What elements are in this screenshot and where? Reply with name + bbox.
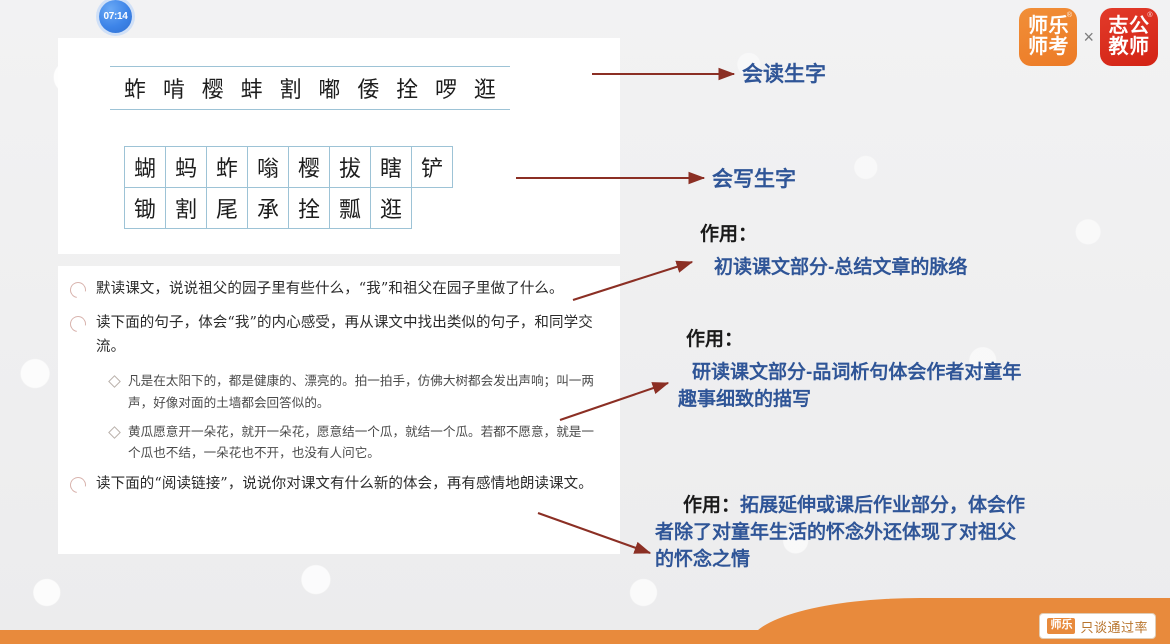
footer-badge-text: 只谈通过率 xyxy=(1080,617,1148,636)
question-subitem-text: 凡是在太阳下的，都是健康的、漂亮的。拍一拍手，仿佛大树都会发出声响；叫一两声，好… xyxy=(128,370,598,413)
write-char-cell: 铲 xyxy=(411,146,453,188)
questions-card: 默读课文，说说祖父的园子里有些什么，“我”和祖父在园子里做了什么。 读下面的句子… xyxy=(58,266,620,554)
footer-bar xyxy=(0,630,1170,644)
diamond-bullet-icon xyxy=(108,426,121,439)
annotation-value-line3: 的怀念之情 xyxy=(655,547,1155,574)
slide-canvas: 07:14 ® 师乐 师考 × ® 志公 教师 蚱 啃 樱 蚌 割 嘟 倭 拴 … xyxy=(0,0,1170,644)
timer-badge[interactable]: 07:14 xyxy=(99,0,132,33)
registered-mark-icon: ® xyxy=(1067,12,1073,19)
annotation-write-label: 会写生字 xyxy=(712,165,796,195)
logo-shile-shikao: ® 师乐 师考 xyxy=(1019,8,1077,66)
annotation-label: 作用： xyxy=(686,327,1148,354)
write-char-cell: 蚂 xyxy=(165,146,207,188)
write-grid-row: 蝴 蚂 蚱 嗡 樱 拔 瞎 铲 xyxy=(124,146,452,187)
question-item: 读下面的句子，体会“我”的内心感受，再从课文中找出类似的句子，和同学交流。 xyxy=(70,312,618,359)
read-char: 樱 xyxy=(202,72,224,104)
footer-badge-mark: 师乐 xyxy=(1047,618,1075,633)
annotation-label: 作用： xyxy=(683,495,740,516)
read-char: 蚱 xyxy=(124,72,146,104)
logo-right-line2: 教师 xyxy=(1109,37,1150,58)
question-subitem-text: 黄瓜愿意开一朵花，就开一朵花，愿意结一个瓜，就结一个瓜。若都不愿意，就是一个瓜也… xyxy=(128,421,598,464)
annotation-value-line2: 趣事细致的描写 xyxy=(678,387,1148,414)
read-char: 啃 xyxy=(163,72,185,104)
annotation-value: 研读课文部分-品词析句体会作者对童年 趣事细致的描写 xyxy=(678,360,1148,414)
annotation-value-line1: 研读课文部分-品词析句体会作者对童年 xyxy=(692,360,1148,387)
write-char-cell: 尾 xyxy=(206,187,248,229)
annotation-label: 作用： xyxy=(700,222,967,249)
write-grid-row: 锄 割 尾 承 拴 瓢 逛 xyxy=(124,187,452,228)
read-char: 蚌 xyxy=(241,72,263,104)
character-card: 蚱 啃 樱 蚌 割 嘟 倭 拴 啰 逛 蝴 蚂 蚱 嗡 樱 拔 瞎 铲 锄 xyxy=(58,38,620,254)
question-list: 默读课文，说说祖父的园子里有些什么，“我”和祖父在园子里做了什么。 读下面的句子… xyxy=(70,278,618,508)
read-char: 逛 xyxy=(474,72,496,104)
write-char-cell: 锄 xyxy=(124,187,166,229)
annotation-block-2: 作用： 研读课文部分-品词析句体会作者对童年 趣事细致的描写 xyxy=(678,327,1148,414)
logo-left-line1: 师乐 xyxy=(1028,16,1069,37)
question-text: 默读课文，说说祖父的园子里有些什么，“我”和祖父在园子里做了什么。 xyxy=(96,278,564,301)
annotation-block-1: 作用： 初读课文部分-总结文章的脉络 xyxy=(700,222,967,282)
annotation-read-label: 会读生字 xyxy=(742,60,826,90)
write-char-cell: 蝴 xyxy=(124,146,166,188)
logo-right-line1: 志公 xyxy=(1109,16,1150,37)
read-char: 割 xyxy=(280,72,302,104)
read-char: 拴 xyxy=(396,72,418,104)
read-char: 倭 xyxy=(357,72,379,104)
question-item: 默读课文，说说祖父的园子里有些什么，“我”和祖父在园子里做了什么。 xyxy=(70,278,618,301)
write-char-cell: 拔 xyxy=(329,146,371,188)
write-char-cell: 承 xyxy=(247,187,289,229)
question-item: 读下面的“阅读链接”，说说你对课文有什么新的体会，再有感情地朗读课文。 xyxy=(70,473,618,496)
logo-group: ® 师乐 师考 × ® 志公 教师 xyxy=(1019,8,1158,66)
read-char: 啰 xyxy=(435,72,457,104)
read-char: 嘟 xyxy=(318,72,340,104)
write-characters-grid: 蝴 蚂 蚱 嗡 樱 拔 瞎 铲 锄 割 尾 承 拴 瓢 逛 xyxy=(124,146,452,228)
question-bullet-icon xyxy=(67,313,89,335)
write-char-cell: 樱 xyxy=(288,146,330,188)
question-subitem: 凡是在太阳下的，都是健康的、漂亮的。拍一拍手，仿佛大树都会发出声响；叫一两声，好… xyxy=(110,370,618,413)
write-char-cell: 蚱 xyxy=(206,146,248,188)
logo-separator-x: × xyxy=(1083,28,1094,46)
annotation-value: 初读课文部分-总结文章的脉络 xyxy=(714,255,967,282)
question-subitem: 黄瓜愿意开一朵花，就开一朵花，愿意结一个瓜，就结一个瓜。若都不愿意，就是一个瓜也… xyxy=(110,421,618,464)
read-characters-row: 蚱 啃 樱 蚌 割 嘟 倭 拴 啰 逛 xyxy=(110,66,510,110)
registered-mark-icon: ® xyxy=(1147,12,1153,19)
question-text: 读下面的句子，体会“我”的内心感受，再从课文中找出类似的句子，和同学交流。 xyxy=(96,312,618,359)
logo-left-line2: 师考 xyxy=(1028,37,1069,58)
question-text: 读下面的“阅读链接”，说说你对课文有什么新的体会，再有感情地朗读课文。 xyxy=(96,473,593,496)
diamond-bullet-icon xyxy=(108,376,121,389)
write-char-cell: 逛 xyxy=(370,187,412,229)
logo-zhigong-jiaoshi: ® 志公 教师 xyxy=(1100,8,1158,66)
question-bullet-icon xyxy=(67,279,89,301)
write-char-cell: 割 xyxy=(165,187,207,229)
footer-badge: 师乐 只谈通过率 xyxy=(1039,613,1156,639)
write-char-cell: 拴 xyxy=(288,187,330,229)
annotation-block-3-line1: 作用：拓展延伸或课后作业部分，体会作 xyxy=(655,493,1155,520)
annotation-value-line1: 拓展延伸或课后作业部分，体会作 xyxy=(740,495,1025,516)
write-char-cell: 瞎 xyxy=(370,146,412,188)
annotation-value-line2: 者除了对童年生活的怀念外还体现了对祖父 xyxy=(655,520,1155,547)
question-bullet-icon xyxy=(67,474,89,496)
write-char-cell: 瓢 xyxy=(329,187,371,229)
annotation-block-3: 作用：拓展延伸或课后作业部分，体会作 者除了对童年生活的怀念外还体现了对祖父 的… xyxy=(655,493,1155,574)
timer-value: 07:14 xyxy=(103,11,127,22)
write-char-cell: 嗡 xyxy=(247,146,289,188)
